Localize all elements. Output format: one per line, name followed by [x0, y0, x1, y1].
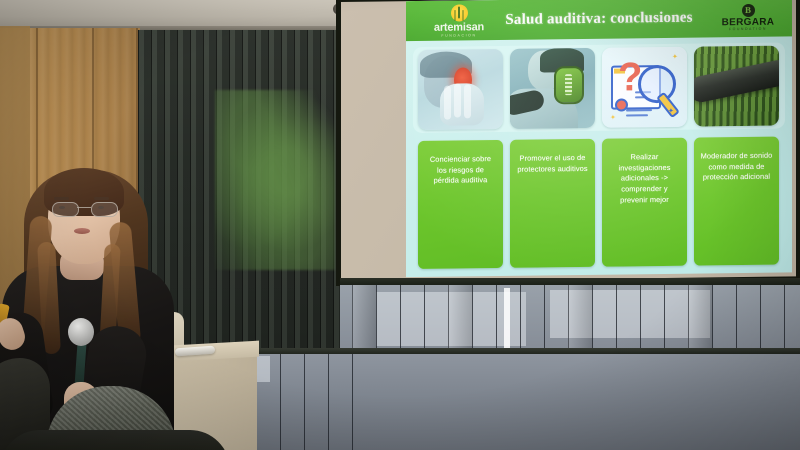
conclusion-box-2: Promover el uso de protectores auditivos: [510, 139, 595, 268]
artemisan-tagline: FUNDACION: [441, 34, 476, 38]
microphone-icon: [68, 318, 94, 346]
hearing-protection-photo: [510, 48, 595, 129]
conclusion-box-3: Realizar investigaciones adicionales -> …: [602, 138, 687, 267]
bergara-logo: B BERGARA FOUNDATION: [709, 0, 787, 35]
conclusion-text-2: Promover el uso de protectores auditivos: [510, 153, 595, 176]
research-illustration: ? ✦ ✦ ✦: [602, 47, 687, 128]
sound-moderator-photo: [694, 46, 779, 127]
ear-pain-photo: [418, 49, 503, 130]
conference-room-photo: artemisan FUNDACION Salud auditiva: conc…: [0, 0, 800, 450]
projection-screen: artemisan FUNDACION Salud auditiva: conc…: [336, 0, 800, 286]
conclusion-text-1: Concienciar sobre los riesgos de pérdida…: [418, 154, 503, 187]
conclusion-box-1: Concienciar sobre los riesgos de pérdida…: [418, 140, 503, 269]
audience-member-body: [0, 430, 230, 450]
presenter-mouth: [74, 228, 90, 234]
presenter-glasses: [52, 202, 116, 215]
slide-header: artemisan FUNDACION Salud auditiva: conc…: [406, 0, 792, 41]
bergara-tagline: FOUNDATION: [729, 27, 767, 31]
conclusion-box-4: Moderador de sonido como medida de prote…: [694, 137, 779, 266]
conclusion-boxes: Concienciar sobre los riesgos de pérdida…: [418, 137, 782, 269]
slide-body: ? ✦ ✦ ✦: [406, 36, 792, 277]
conclusion-text-4: Moderador de sonido como medida de prote…: [694, 151, 779, 184]
blind-headrail: [340, 278, 800, 285]
bergara-monogram-icon: B: [742, 4, 755, 17]
presentation-slide: artemisan FUNDACION Salud auditiva: conc…: [406, 0, 792, 277]
thumbnail-row: ? ✦ ✦ ✦: [418, 46, 782, 130]
indoor-plant: [215, 90, 335, 270]
conclusion-text-3: Realizar investigaciones adicionales -> …: [602, 152, 687, 207]
